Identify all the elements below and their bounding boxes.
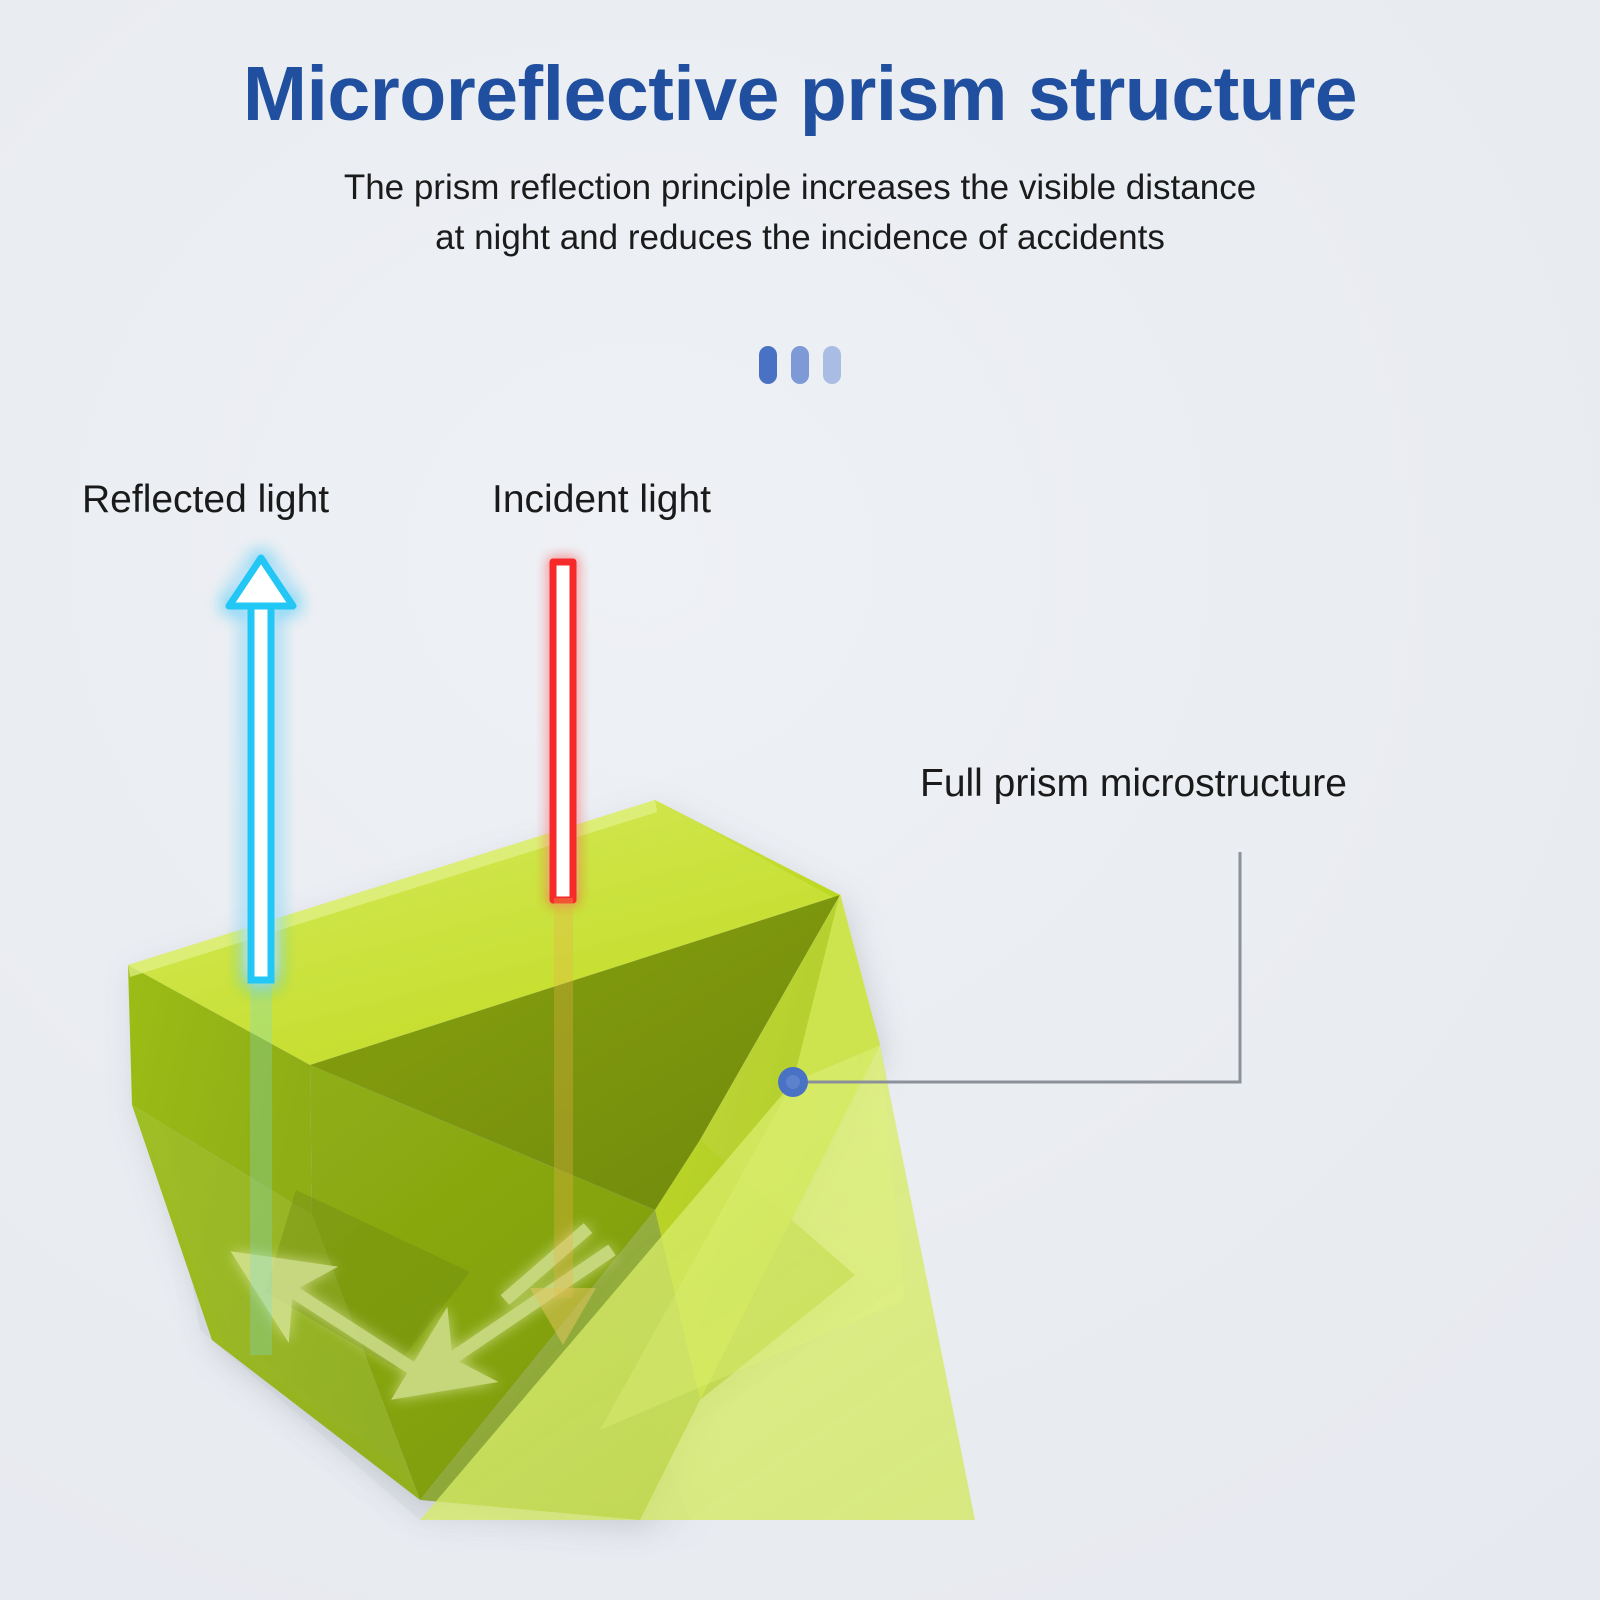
reflected-beam-inside xyxy=(250,965,272,1355)
label-reflected-light: Reflected light xyxy=(82,478,329,522)
label-incident-light: Incident light xyxy=(492,478,711,522)
reflected-beam-shaft xyxy=(251,600,271,980)
incident-beam-shaft xyxy=(553,562,573,900)
prism-diagram xyxy=(0,0,1600,1600)
incident-beam-inside xyxy=(554,898,573,1298)
reflected-beam-arrowhead xyxy=(229,558,293,606)
poster-stage: Microreflective prism structure The pris… xyxy=(0,0,1600,1600)
callout-dot-inner-icon xyxy=(786,1075,800,1089)
label-full-prism-microstructure: Full prism microstructure xyxy=(920,762,1347,806)
